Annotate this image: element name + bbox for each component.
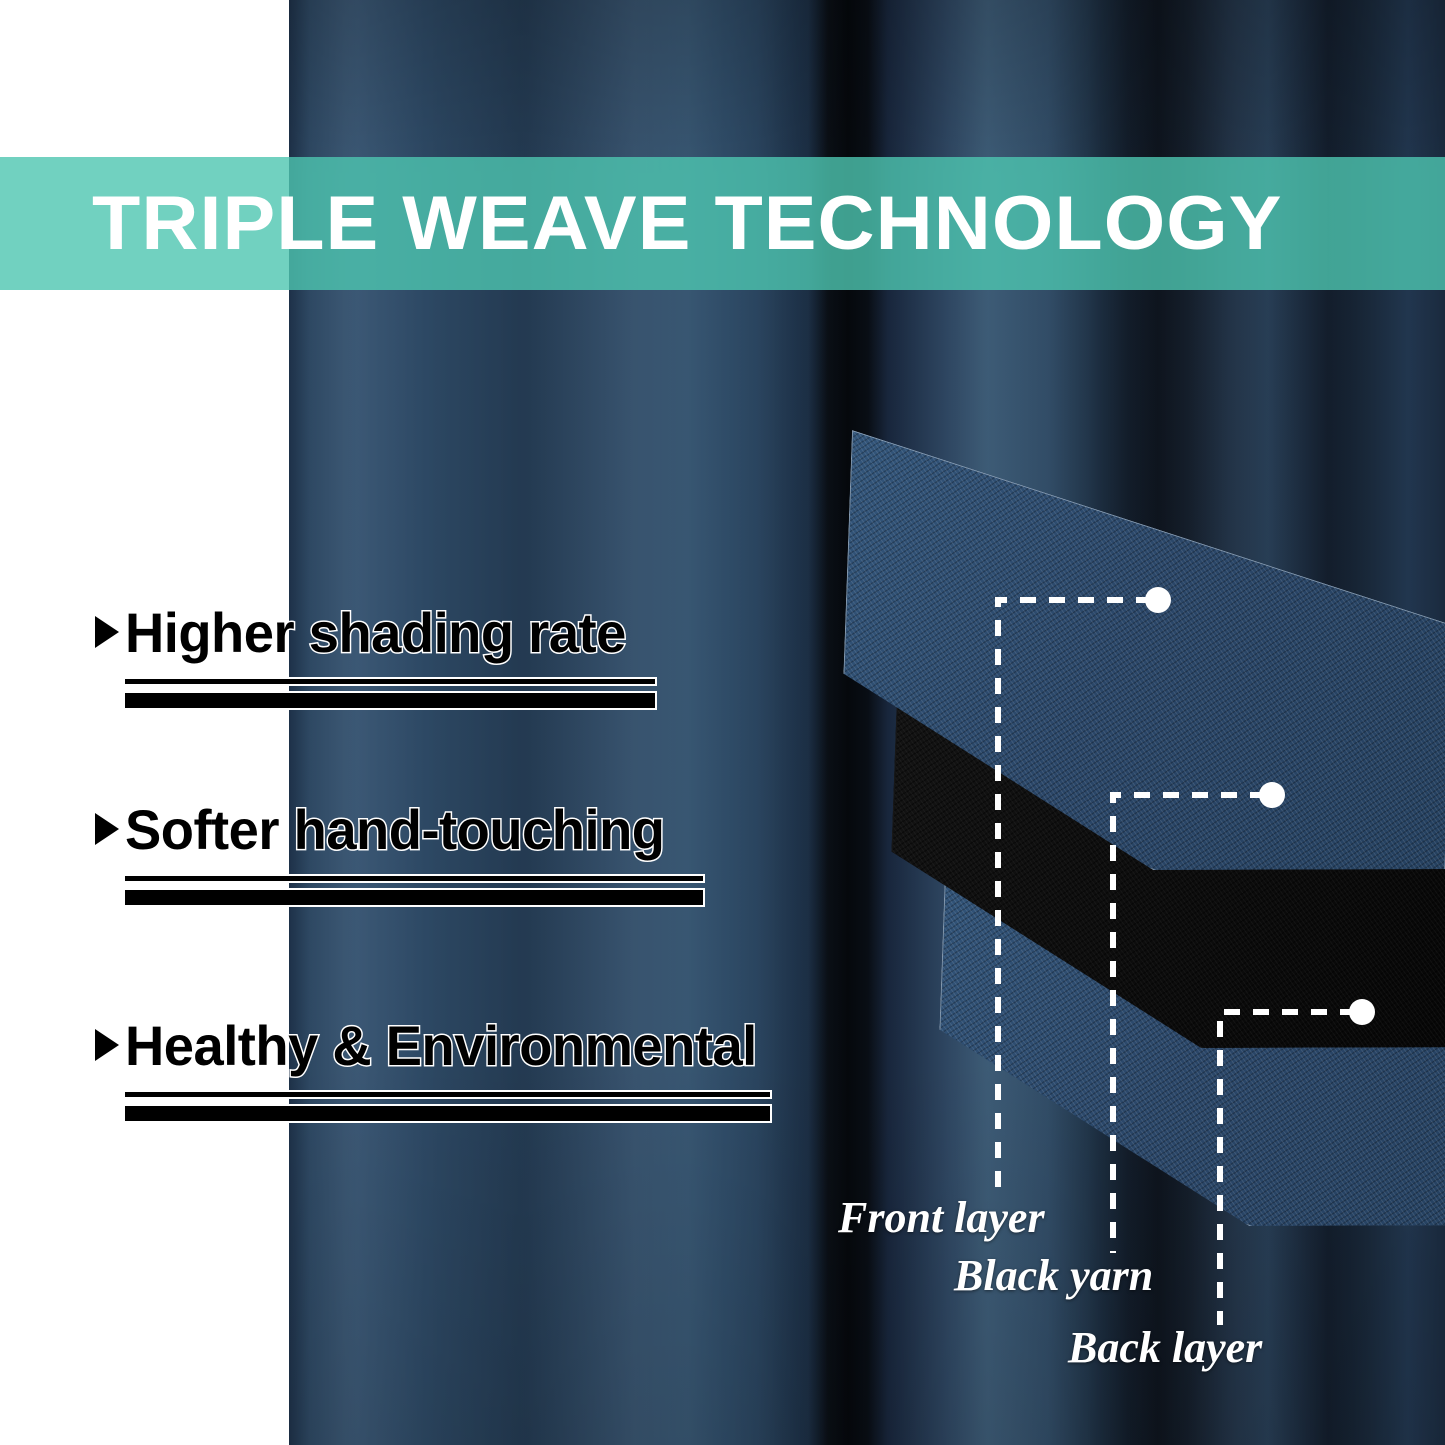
feature-item-1: Higher shading rate: [95, 600, 655, 708]
fabric-layer-diagram: [830, 430, 1445, 1190]
rule-thin: [125, 679, 655, 684]
feature-item-3: Healthy & Environmental: [95, 1013, 776, 1121]
feature-label-1: Higher shading rate: [125, 600, 626, 665]
title-banner: TRIPLE WEAVE TECHNOLOGY: [0, 157, 1445, 290]
rule-thick: [125, 693, 655, 708]
feature-line-1: Higher shading rate: [95, 600, 655, 665]
callout-label-black-yarn: Black yarn: [954, 1250, 1153, 1301]
callout-label-back-layer: Back layer: [1068, 1322, 1262, 1373]
feature-underline-2: [125, 876, 703, 905]
rule-thick: [125, 890, 703, 905]
callout-label-front-layer: Front layer: [838, 1192, 1045, 1243]
feature-item-2: Softer hand-touching: [95, 797, 703, 905]
triangle-right-icon: [95, 616, 119, 648]
feature-label-2: Softer hand-touching: [125, 797, 664, 862]
feature-underline-3: [125, 1092, 770, 1121]
triangle-right-icon: [95, 1029, 119, 1061]
rule-thick: [125, 1106, 770, 1121]
rule-thin: [125, 1092, 770, 1097]
page-title: TRIPLE WEAVE TECHNOLOGY: [92, 186, 1283, 262]
triangle-right-icon: [95, 813, 119, 845]
product-infographic: TRIPLE WEAVE TECHNOLOGY Higher shading r…: [0, 0, 1445, 1445]
rule-thin: [125, 876, 703, 881]
feature-line-3: Healthy & Environmental: [95, 1013, 776, 1078]
feature-line-2: Softer hand-touching: [95, 797, 703, 862]
feature-underline-1: [125, 679, 655, 708]
feature-label-3: Healthy & Environmental: [125, 1013, 757, 1078]
